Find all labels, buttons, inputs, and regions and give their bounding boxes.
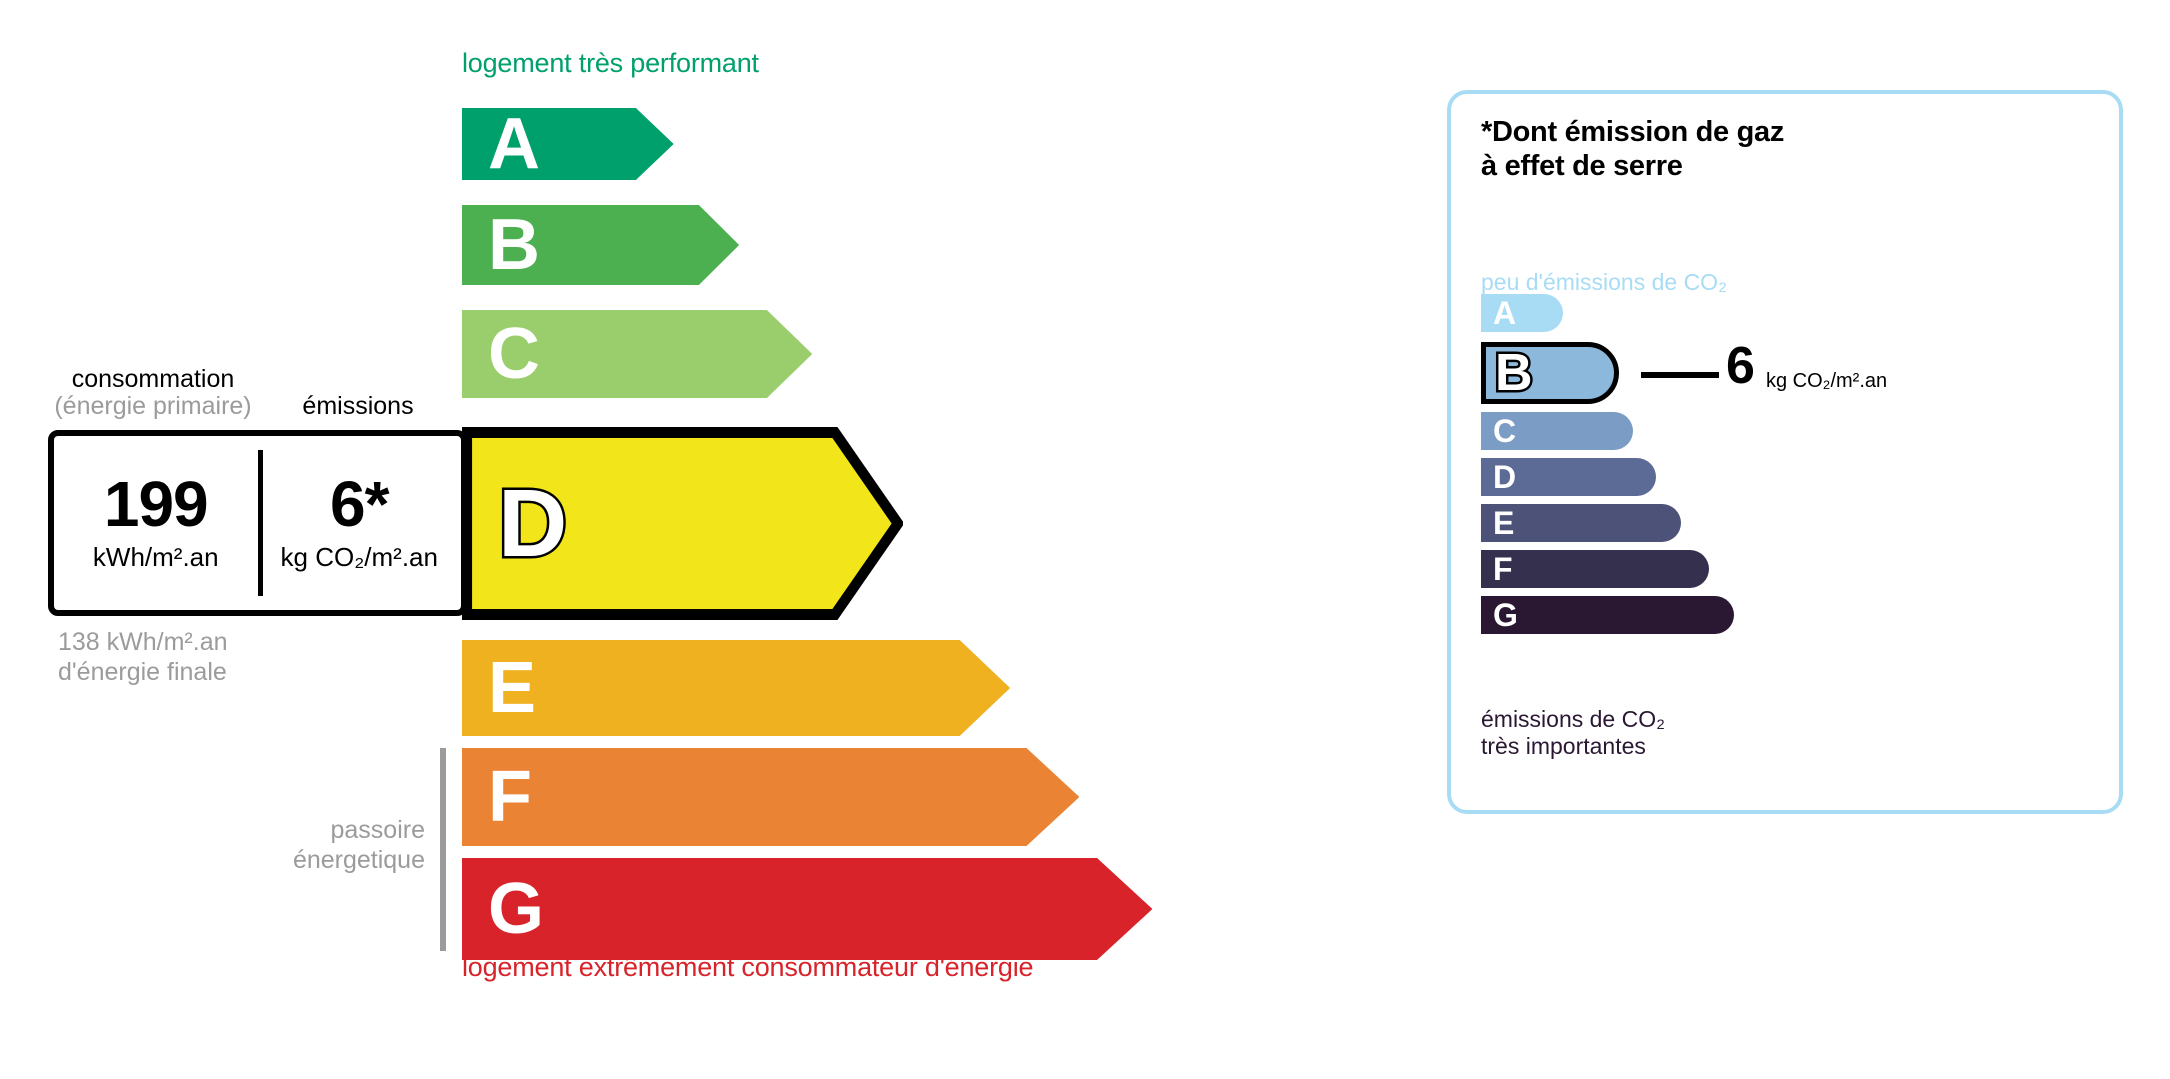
co2-class-row-f: F xyxy=(1481,550,2009,588)
energy-class-letter-d: D xyxy=(498,476,567,572)
energy-class-letter-b: B xyxy=(488,209,540,281)
co2-title-line2: à effet de serre xyxy=(1481,150,1683,182)
energy-class-arrow-e: E xyxy=(462,640,1010,736)
emissions-label: émissions xyxy=(268,392,448,421)
emissions-value: 6* xyxy=(330,473,389,536)
energy-class-letter-a: A xyxy=(488,108,540,180)
co2-class-bar-g xyxy=(1481,596,1734,634)
passoire-label-line1: passoire xyxy=(331,816,426,844)
co2-class-row-b-current: B 6 kg CO₂/m².an xyxy=(1481,342,1919,404)
energy-class-letter-f: F xyxy=(488,761,532,833)
arrow-shape-f xyxy=(462,748,1079,846)
co2-bottom-caption-line1: émissions de CO₂ xyxy=(1481,706,1665,732)
co2-class-letter-b: B xyxy=(1495,347,1533,399)
consumption-label-main: consommation xyxy=(72,365,235,393)
passoire-label-line2: énergetique xyxy=(293,846,425,874)
consumption-value-cell: 199 kWh/m².an xyxy=(54,436,258,610)
arrow-shape-g xyxy=(462,858,1152,960)
co2-scale-top-caption: peu d'émissions de CO₂ xyxy=(1481,269,1727,296)
energy-class-letter-c: C xyxy=(488,318,540,390)
energy-class-row-d-current: D xyxy=(462,427,903,620)
co2-value-unit: kg CO₂/m².an xyxy=(1766,370,1887,393)
passoire-energetique-label: passoire énergetique xyxy=(240,816,425,875)
consumption-value: 199 xyxy=(104,473,208,536)
energy-class-arrow-f: F xyxy=(462,748,1079,846)
energy-class-arrow-c: C xyxy=(462,310,812,398)
co2-class-row-a: A xyxy=(1481,294,1863,332)
energy-class-row-g: G xyxy=(462,858,1152,960)
co2-class-row-c: C xyxy=(1481,412,1933,450)
co2-panel-title: *Dont émission de gaz à effet de serre xyxy=(1481,116,1784,184)
co2-bottom-caption-line2: très importantes xyxy=(1481,733,1646,759)
energy-class-arrow-b: B xyxy=(462,205,739,285)
energy-scale-top-caption: logement très performant xyxy=(462,48,759,79)
co2-class-letter-g: G xyxy=(1493,599,1518,631)
consumption-label-sub: (énergie primaire) xyxy=(48,393,258,420)
energy-class-row-f: F xyxy=(462,748,1079,846)
co2-class-row-g: G xyxy=(1481,596,2034,634)
energy-scale-bottom-caption: logement extrêmement consommateur d'éner… xyxy=(462,952,1033,983)
emissions-value-cell: 6* kg CO₂/m².an xyxy=(258,436,462,610)
co2-class-letter-a: A xyxy=(1493,297,1516,329)
consumption-label: consommation (énergie primaire) xyxy=(48,366,258,420)
co2-emissions-panel: *Dont émission de gaz à effet de serre p… xyxy=(1447,90,2123,814)
energy-class-row-c: C xyxy=(462,310,812,398)
energy-class-row-e: E xyxy=(462,640,1010,736)
final-energy-line2: d'énergie finale xyxy=(58,658,227,686)
co2-class-bar-f xyxy=(1481,550,1709,588)
final-energy-line1: 138 kWh/m².an xyxy=(58,628,228,656)
co2-class-letter-f: F xyxy=(1493,553,1513,585)
consumption-value-unit: kWh/m².an xyxy=(93,542,219,573)
co2-class-letter-c: C xyxy=(1493,415,1516,447)
energy-class-row-a: A xyxy=(462,108,674,180)
energy-class-arrow-g: G xyxy=(462,858,1152,960)
co2-scale-bottom-caption: émissions de CO₂ très importantes xyxy=(1481,706,1665,760)
co2-title-line1: *Dont émission de gaz xyxy=(1481,116,1784,148)
energy-class-letter-g: G xyxy=(488,873,544,945)
co2-class-letter-e: E xyxy=(1493,507,1514,539)
energy-class-arrow-a: A xyxy=(462,108,674,180)
energy-value-box: 199 kWh/m².an 6* kg CO₂/m².an xyxy=(48,430,467,616)
energy-performance-diagram: logement très performant A B C xyxy=(0,0,1400,1079)
energy-class-letter-e: E xyxy=(488,652,536,724)
energy-class-row-b: B xyxy=(462,205,739,285)
co2-class-letter-d: D xyxy=(1493,461,1516,493)
co2-class-row-e: E xyxy=(1481,504,1981,542)
arrow-shape-e xyxy=(462,640,1010,736)
co2-value: 6 xyxy=(1726,340,1755,392)
co2-value-leader-line xyxy=(1641,372,1719,378)
passoire-energetique-marker-bar xyxy=(440,748,446,951)
energy-class-arrow-d: D xyxy=(462,427,903,620)
final-energy-label: 138 kWh/m².an d'énergie finale xyxy=(58,628,228,687)
emissions-value-unit: kg CO₂/m².an xyxy=(281,542,438,573)
co2-class-row-d: D xyxy=(1481,458,1956,496)
